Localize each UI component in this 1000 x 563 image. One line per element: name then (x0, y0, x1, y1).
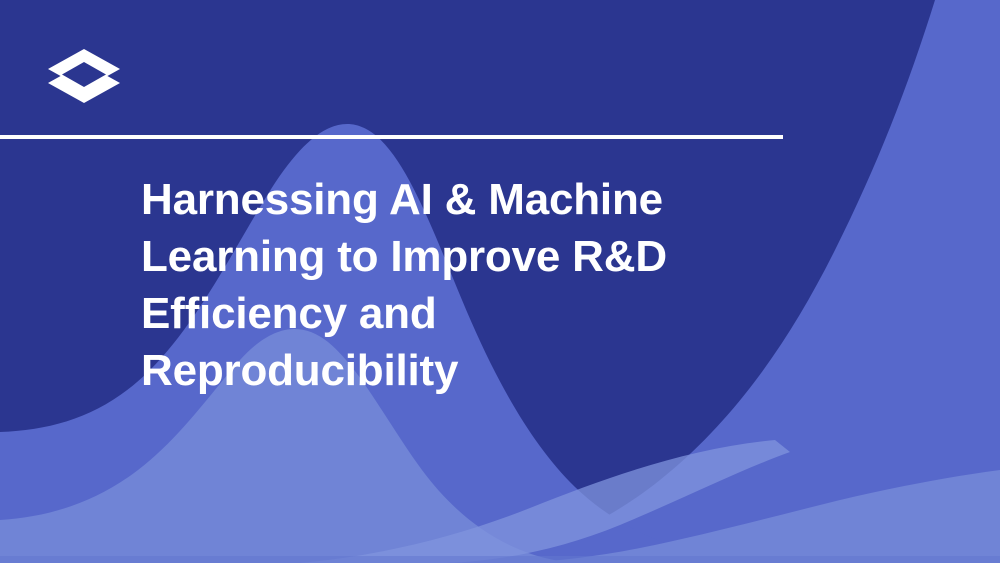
presentation-title-slide: Harnessing AI & Machine Learning to Impr… (0, 0, 1000, 563)
title-divider-rule (0, 135, 783, 139)
page-title: Harnessing AI & Machine Learning to Impr… (141, 171, 821, 399)
stacked-diamonds-icon (44, 45, 124, 107)
title-block: Harnessing AI & Machine Learning to Impr… (141, 171, 821, 399)
brand-logo (44, 45, 124, 107)
